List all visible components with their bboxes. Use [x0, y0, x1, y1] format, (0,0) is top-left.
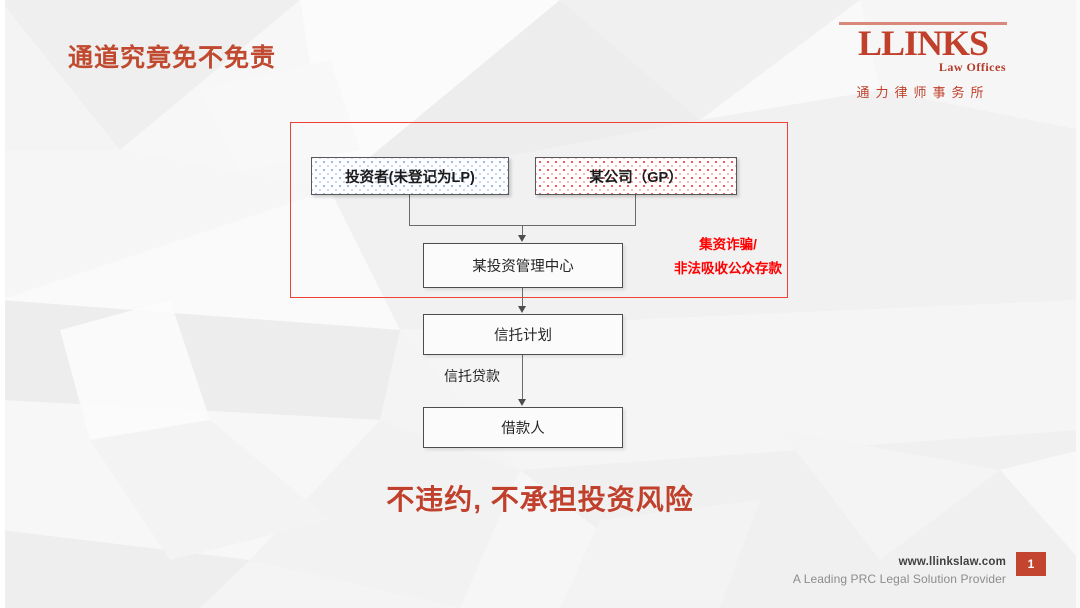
- flow-node-investor: 投资者(未登记为LP): [311, 157, 509, 195]
- edge-label-trust-loan: 信托贷款: [444, 366, 500, 386]
- flow-node-investment-center: 某投资管理中心: [423, 243, 623, 288]
- flow-node-trust-plan-label: 信托计划: [494, 324, 552, 345]
- page-title: 通道究竟免不免责: [68, 38, 276, 74]
- flow-node-borrower: 借款人: [423, 407, 623, 448]
- connector-center-to-trust: [522, 288, 523, 308]
- criminal-charge-annotation: 集资诈骗/ 非法吸收公众存款: [672, 233, 784, 280]
- page-number-badge: 1: [1016, 552, 1046, 576]
- slide-canvas: 通道究竟免不免责 LLINKS Law Offices 通力律师事务所 投资者(…: [0, 0, 1080, 608]
- conclusion-statement: 不违约, 不承担投资风险: [0, 478, 1080, 518]
- logo-wordmark: LLINKS: [828, 26, 1018, 64]
- annotation-line-2: 非法吸收公众存款: [672, 257, 784, 281]
- logo-chinese-name: 通力律师事务所: [828, 82, 1018, 101]
- arrowhead-into-center: [518, 235, 526, 242]
- connector-trust-to-borrower: [522, 355, 523, 401]
- footer-website-url[interactable]: www.llinkslaw.com: [793, 556, 1006, 568]
- llinks-logo: LLINKS Law Offices 通力律师事务所: [828, 22, 1018, 101]
- flow-node-borrower-label: 借款人: [501, 417, 545, 438]
- footer-tagline: A Leading PRC Legal Solution Provider: [793, 572, 1006, 586]
- arrowhead-into-trust: [518, 306, 526, 313]
- flow-node-gp-company-label: 某公司（GP）: [589, 166, 682, 187]
- flow-node-investment-center-label: 某投资管理中心: [472, 255, 574, 276]
- flow-node-investor-label: 投资者(未登记为LP): [345, 166, 475, 187]
- flow-node-trust-plan: 信托计划: [423, 314, 623, 355]
- connector-investor-down: [409, 195, 410, 226]
- annotation-line-1: 集资诈骗/: [672, 233, 784, 257]
- connector-gp-down: [635, 195, 636, 226]
- arrowhead-into-borrower: [518, 399, 526, 406]
- flow-node-gp-company: 某公司（GP）: [535, 157, 737, 195]
